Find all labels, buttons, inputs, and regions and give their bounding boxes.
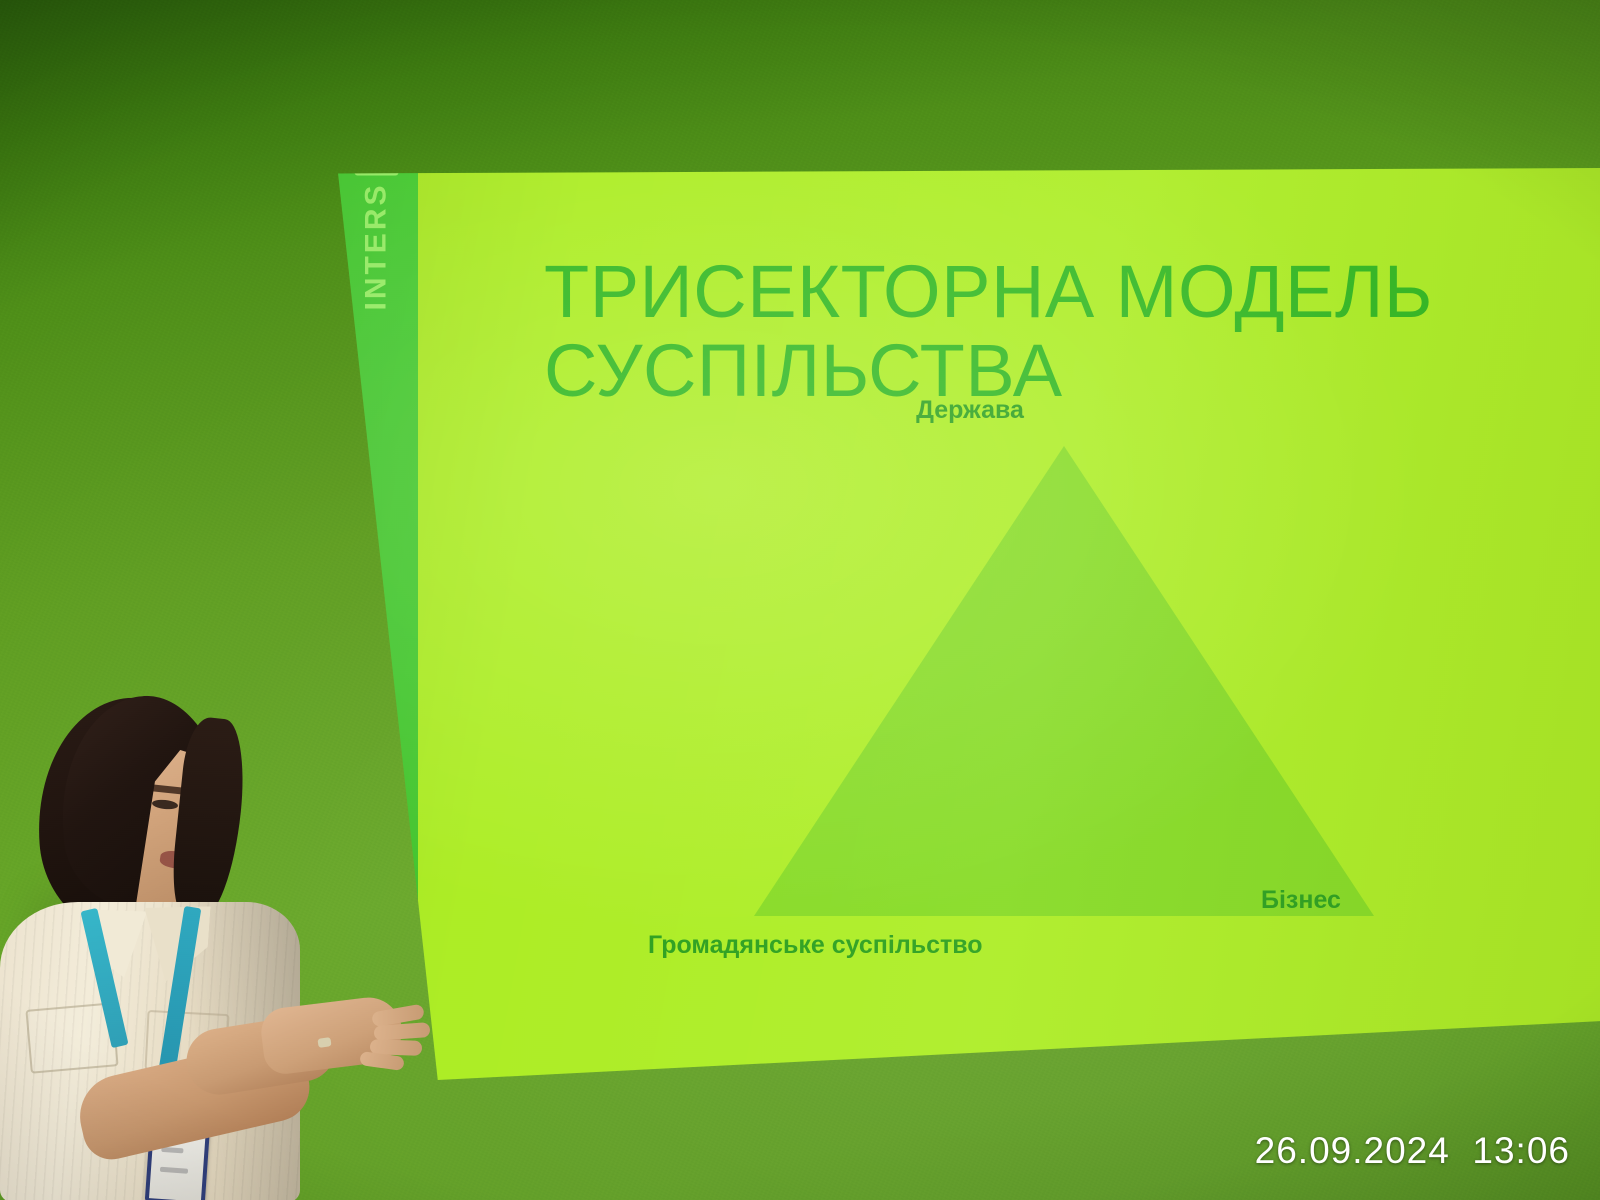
badge-text-line [160,1167,188,1174]
presenter [0,690,470,1200]
presenter-finger [374,1022,431,1041]
tri-sector-diagram: Держава Громадянське суспільство Бізнес [658,386,1498,996]
slide-surface: INTERS S ТРИСЕКТОРНА МОДЕЛЬ СУСПІЛЬСТВА … [336,168,1600,1080]
diagram-label-civil-society: Громадянське суспільство [648,931,983,960]
brand-wordmark: INTERS [362,183,392,311]
camera-timestamp: 26.09.2024 13:06 [1255,1130,1570,1172]
slide-content: ТРИСЕКТОРНА МОДЕЛЬ СУСПІЛЬСТВА Держава Г… [418,168,1600,1080]
diagram-label-state: Держава [916,396,1024,425]
photo-canvas: INTERS S ТРИСЕКТОРНА МОДЕЛЬ СУСПІЛЬСТВА … [0,0,1600,1200]
diagram-label-business: Бізнес [1261,886,1341,915]
projected-slide: INTERS S ТРИСЕКТОРНА МОДЕЛЬ СУСПІЛЬСТВА … [336,168,1600,1080]
triangle-shape [754,446,1374,916]
presenter-ring [317,1037,331,1048]
